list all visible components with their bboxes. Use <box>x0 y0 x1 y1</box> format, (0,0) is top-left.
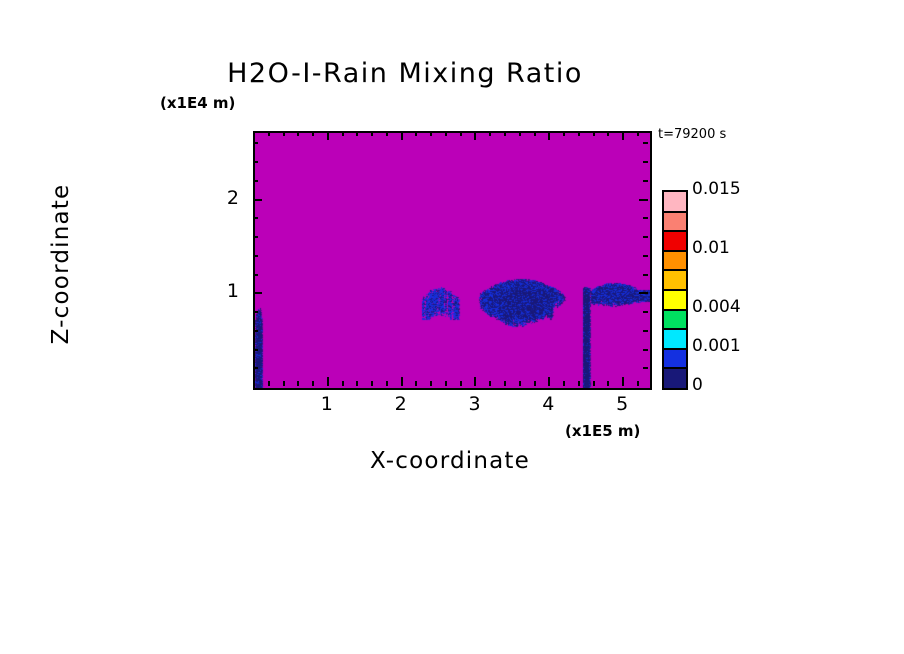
colorbar-tick-label: 0.01 <box>692 238 730 258</box>
z-tick-right <box>643 142 648 144</box>
rain-mixing-ratio-field <box>255 133 650 388</box>
colorbar-band <box>664 329 686 349</box>
colorbar-tick-label: 0.015 <box>692 179 741 199</box>
x-tick-top <box>356 131 358 136</box>
colorbar-tick-label: 0 <box>692 375 703 395</box>
x-tick-bottom <box>504 381 506 386</box>
x-tick-top <box>371 131 373 136</box>
z-tick-right <box>643 367 648 369</box>
colorbar-separator <box>664 269 686 271</box>
colorbar-band <box>664 349 686 369</box>
x-tick-top <box>430 131 432 136</box>
colorbar-band <box>664 251 686 271</box>
x-tick-bottom <box>283 381 285 386</box>
colorbar-separator <box>664 250 686 252</box>
z-tick-label: 2 <box>213 187 239 209</box>
z-tick-right <box>639 199 648 201</box>
x-tick-top <box>268 131 270 136</box>
x-tick-label: 3 <box>454 393 494 415</box>
colorbar-band <box>664 212 686 232</box>
z-tick-left <box>253 217 258 219</box>
x-tick-bottom <box>297 381 299 386</box>
x-tick-bottom <box>445 381 447 386</box>
x-tick-bottom <box>607 381 609 386</box>
z-tick-left <box>253 330 258 332</box>
x-tick-top <box>445 131 447 136</box>
z-tick-left <box>253 292 262 294</box>
z-tick-right <box>643 255 648 257</box>
y-axis-label: Z-coordinate <box>48 114 74 414</box>
x-tick-bottom <box>474 377 476 386</box>
x-tick-bottom <box>371 381 373 386</box>
x-tick-top <box>489 131 491 136</box>
colorbar-separator <box>664 230 686 232</box>
x-tick-label: 4 <box>528 393 568 415</box>
x-tick-bottom <box>489 381 491 386</box>
z-tick-left <box>253 236 258 238</box>
x-tick-bottom <box>268 381 270 386</box>
x-tick-bottom <box>460 381 462 386</box>
chart-title: H2O-I-Rain Mixing Ratio <box>0 58 904 89</box>
colorbar-separator <box>664 367 686 369</box>
z-tick-left <box>253 349 258 351</box>
x-tick-label: 5 <box>602 393 642 415</box>
x-tick-top <box>622 131 624 140</box>
x-tick-top <box>474 131 476 140</box>
x-tick-bottom <box>563 381 565 386</box>
x-tick-bottom <box>578 381 580 386</box>
z-tick-right <box>643 217 648 219</box>
z-tick-right <box>643 349 648 351</box>
z-tick-right <box>643 161 648 163</box>
z-tick-right <box>643 330 648 332</box>
x-tick-top <box>312 131 314 136</box>
z-tick-right <box>639 292 648 294</box>
x-tick-top <box>534 131 536 136</box>
x-tick-bottom <box>415 381 417 386</box>
x-tick-bottom <box>430 381 432 386</box>
timestamp-label: t=79200 s <box>658 127 726 142</box>
x-tick-top <box>578 131 580 136</box>
colorbar-band <box>664 310 686 330</box>
x-tick-top <box>548 131 550 140</box>
x-tick-bottom <box>534 381 536 386</box>
z-tick-right <box>643 311 648 313</box>
colorbar-separator <box>664 348 686 350</box>
x-axis-units: (x1E5 m) <box>565 422 640 440</box>
colorbar-band <box>664 192 686 212</box>
x-tick-top <box>342 131 344 136</box>
x-tick-top <box>504 131 506 136</box>
z-tick-left <box>253 255 258 257</box>
plot-area <box>253 131 652 390</box>
x-tick-top <box>519 131 521 136</box>
x-tick-bottom <box>519 381 521 386</box>
z-tick-right <box>643 180 648 182</box>
z-tick-left <box>253 180 258 182</box>
x-tick-top <box>593 131 595 136</box>
colorbar-band <box>664 368 686 388</box>
colorbar-tick-label: 0.004 <box>692 297 741 317</box>
z-tick-left <box>253 367 258 369</box>
colorbar-separator <box>664 211 686 213</box>
x-tick-top <box>297 131 299 136</box>
x-tick-top <box>637 131 639 136</box>
x-tick-top <box>327 131 329 140</box>
x-tick-top <box>283 131 285 136</box>
z-tick-right <box>643 236 648 238</box>
colorbar-separator <box>664 289 686 291</box>
colorbar-separator <box>664 309 686 311</box>
x-tick-label: 2 <box>381 393 421 415</box>
colorbar-separator <box>664 328 686 330</box>
x-tick-top <box>401 131 403 140</box>
x-tick-top <box>607 131 609 136</box>
x-tick-top <box>563 131 565 136</box>
x-tick-top <box>415 131 417 136</box>
colorbar <box>662 190 688 390</box>
z-tick-left <box>253 161 258 163</box>
x-tick-bottom <box>327 377 329 386</box>
z-tick-left <box>253 199 262 201</box>
x-tick-top <box>460 131 462 136</box>
x-tick-bottom <box>386 381 388 386</box>
z-tick-left <box>253 274 258 276</box>
x-tick-bottom <box>637 381 639 386</box>
x-tick-label: 1 <box>307 393 347 415</box>
x-tick-bottom <box>401 377 403 386</box>
x-tick-bottom <box>356 381 358 386</box>
colorbar-tick-label: 0.001 <box>692 336 741 356</box>
colorbar-band <box>664 270 686 290</box>
x-tick-bottom <box>622 377 624 386</box>
x-tick-bottom <box>312 381 314 386</box>
z-tick-left <box>253 311 258 313</box>
x-tick-top <box>386 131 388 136</box>
x-tick-bottom <box>593 381 595 386</box>
y-axis-units: (x1E4 m) <box>160 94 235 112</box>
x-axis-label: X-coordinate <box>0 448 904 474</box>
colorbar-band <box>664 231 686 251</box>
colorbar-band <box>664 290 686 310</box>
figure-canvas: H2O-I-Rain Mixing Ratio (x1E4 m) t=79200… <box>0 0 904 654</box>
z-tick-label: 1 <box>213 280 239 302</box>
z-tick-left <box>253 142 258 144</box>
z-tick-right <box>643 274 648 276</box>
x-tick-bottom <box>548 377 550 386</box>
x-tick-bottom <box>342 381 344 386</box>
